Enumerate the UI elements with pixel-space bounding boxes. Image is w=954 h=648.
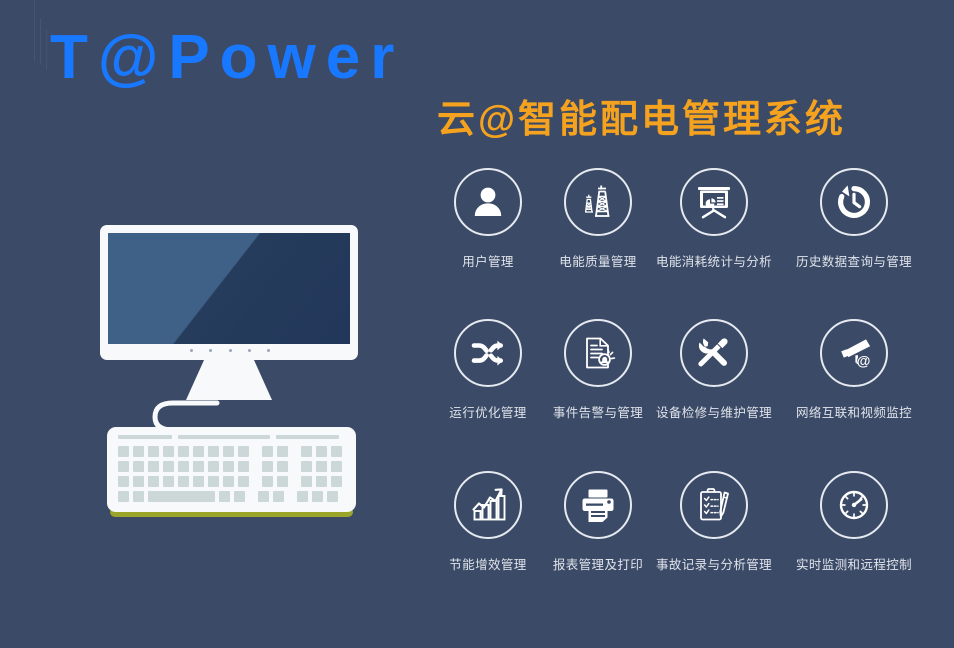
power-tower-icon bbox=[564, 168, 632, 236]
keyboard-row bbox=[118, 476, 346, 487]
gauge-meter-icon bbox=[820, 471, 888, 539]
feature-item-report-printing[interactable]: 报表管理及打印 bbox=[542, 471, 654, 591]
brand-title: T@Power bbox=[50, 20, 404, 96]
desktop-computer-illustration bbox=[85, 215, 375, 535]
decorative-line-artifact bbox=[46, 30, 47, 70]
cctv-camera-at-icon: @ bbox=[820, 319, 888, 387]
user-icon bbox=[454, 168, 522, 236]
feature-label: 设备检修与维护管理 bbox=[656, 405, 772, 421]
decorative-line-artifact bbox=[34, 0, 35, 62]
feature-label: 报表管理及打印 bbox=[553, 557, 643, 573]
keyboard-row bbox=[118, 461, 346, 472]
feature-row: 用户管理 bbox=[434, 168, 934, 288]
feature-label: 实时监测和远程控制 bbox=[796, 557, 912, 573]
feature-item-energy-saving[interactable]: 节能增效管理 bbox=[434, 471, 542, 591]
feature-label: 网络互联和视频监控 bbox=[796, 405, 912, 421]
feature-label: 节能增效管理 bbox=[449, 557, 526, 573]
wrench-screwdriver-icon bbox=[680, 319, 748, 387]
feature-item-power-quality[interactable]: 电能质量管理 bbox=[542, 168, 654, 288]
feature-label: 电能消耗统计与分析 bbox=[656, 254, 772, 270]
feature-grid: 用户管理 bbox=[434, 168, 934, 588]
printer-icon bbox=[564, 471, 632, 539]
feature-row: 运行优化管理 事件告警与管理 bbox=[434, 319, 934, 439]
shuffle-arrows-icon bbox=[454, 319, 522, 387]
feature-item-consumption-analysis[interactable]: 电能消耗统计与分析 bbox=[654, 168, 774, 288]
feature-label: 事故记录与分析管理 bbox=[656, 557, 772, 573]
brand-subtitle: 云@智能配电管理系统 bbox=[437, 96, 846, 144]
feature-label: 电能质量管理 bbox=[559, 254, 636, 270]
document-alert-icon bbox=[564, 319, 632, 387]
monitor-stand bbox=[186, 358, 272, 400]
clock-history-icon bbox=[820, 168, 888, 236]
monitor-indicator-dots bbox=[190, 349, 270, 354]
poster-canvas: T@Power 云@智能配电管理系统 bbox=[0, 0, 954, 648]
growth-bar-chart-icon bbox=[454, 471, 522, 539]
feature-item-realtime-monitoring[interactable]: 实时监测和远程控制 bbox=[774, 471, 934, 591]
keyboard-row bbox=[118, 446, 346, 457]
feature-item-user-management[interactable]: 用户管理 bbox=[434, 168, 542, 288]
feature-item-operation-optimization[interactable]: 运行优化管理 bbox=[434, 319, 542, 439]
monitor-screen bbox=[108, 233, 350, 344]
feature-row: 节能增效管理 报表管理及打印 bbox=[434, 471, 934, 591]
monitor-bezel bbox=[100, 225, 358, 360]
svg-text:@: @ bbox=[857, 352, 871, 368]
keyboard-function-row bbox=[118, 435, 345, 439]
feature-label: 事件告警与管理 bbox=[553, 405, 643, 421]
keyboard-key-rows bbox=[118, 446, 346, 506]
feature-item-equipment-maintenance[interactable]: 设备检修与维护管理 bbox=[654, 319, 774, 439]
feature-item-network-video-monitoring[interactable]: @ 网络互联和视频监控 bbox=[774, 319, 934, 439]
feature-label: 历史数据查询与管理 bbox=[796, 254, 912, 270]
feature-item-incident-record[interactable]: 事故记录与分析管理 bbox=[654, 471, 774, 591]
feature-item-event-alarm[interactable]: 事件告警与管理 bbox=[542, 319, 654, 439]
presentation-chart-icon bbox=[680, 168, 748, 236]
feature-item-history-data[interactable]: 历史数据查询与管理 bbox=[774, 168, 934, 288]
clipboard-checklist-pen-icon bbox=[680, 471, 748, 539]
feature-label: 用户管理 bbox=[462, 254, 514, 270]
decorative-line-artifact bbox=[40, 18, 41, 64]
keyboard bbox=[107, 427, 356, 512]
keyboard-row bbox=[118, 491, 346, 502]
feature-label: 运行优化管理 bbox=[449, 405, 526, 421]
